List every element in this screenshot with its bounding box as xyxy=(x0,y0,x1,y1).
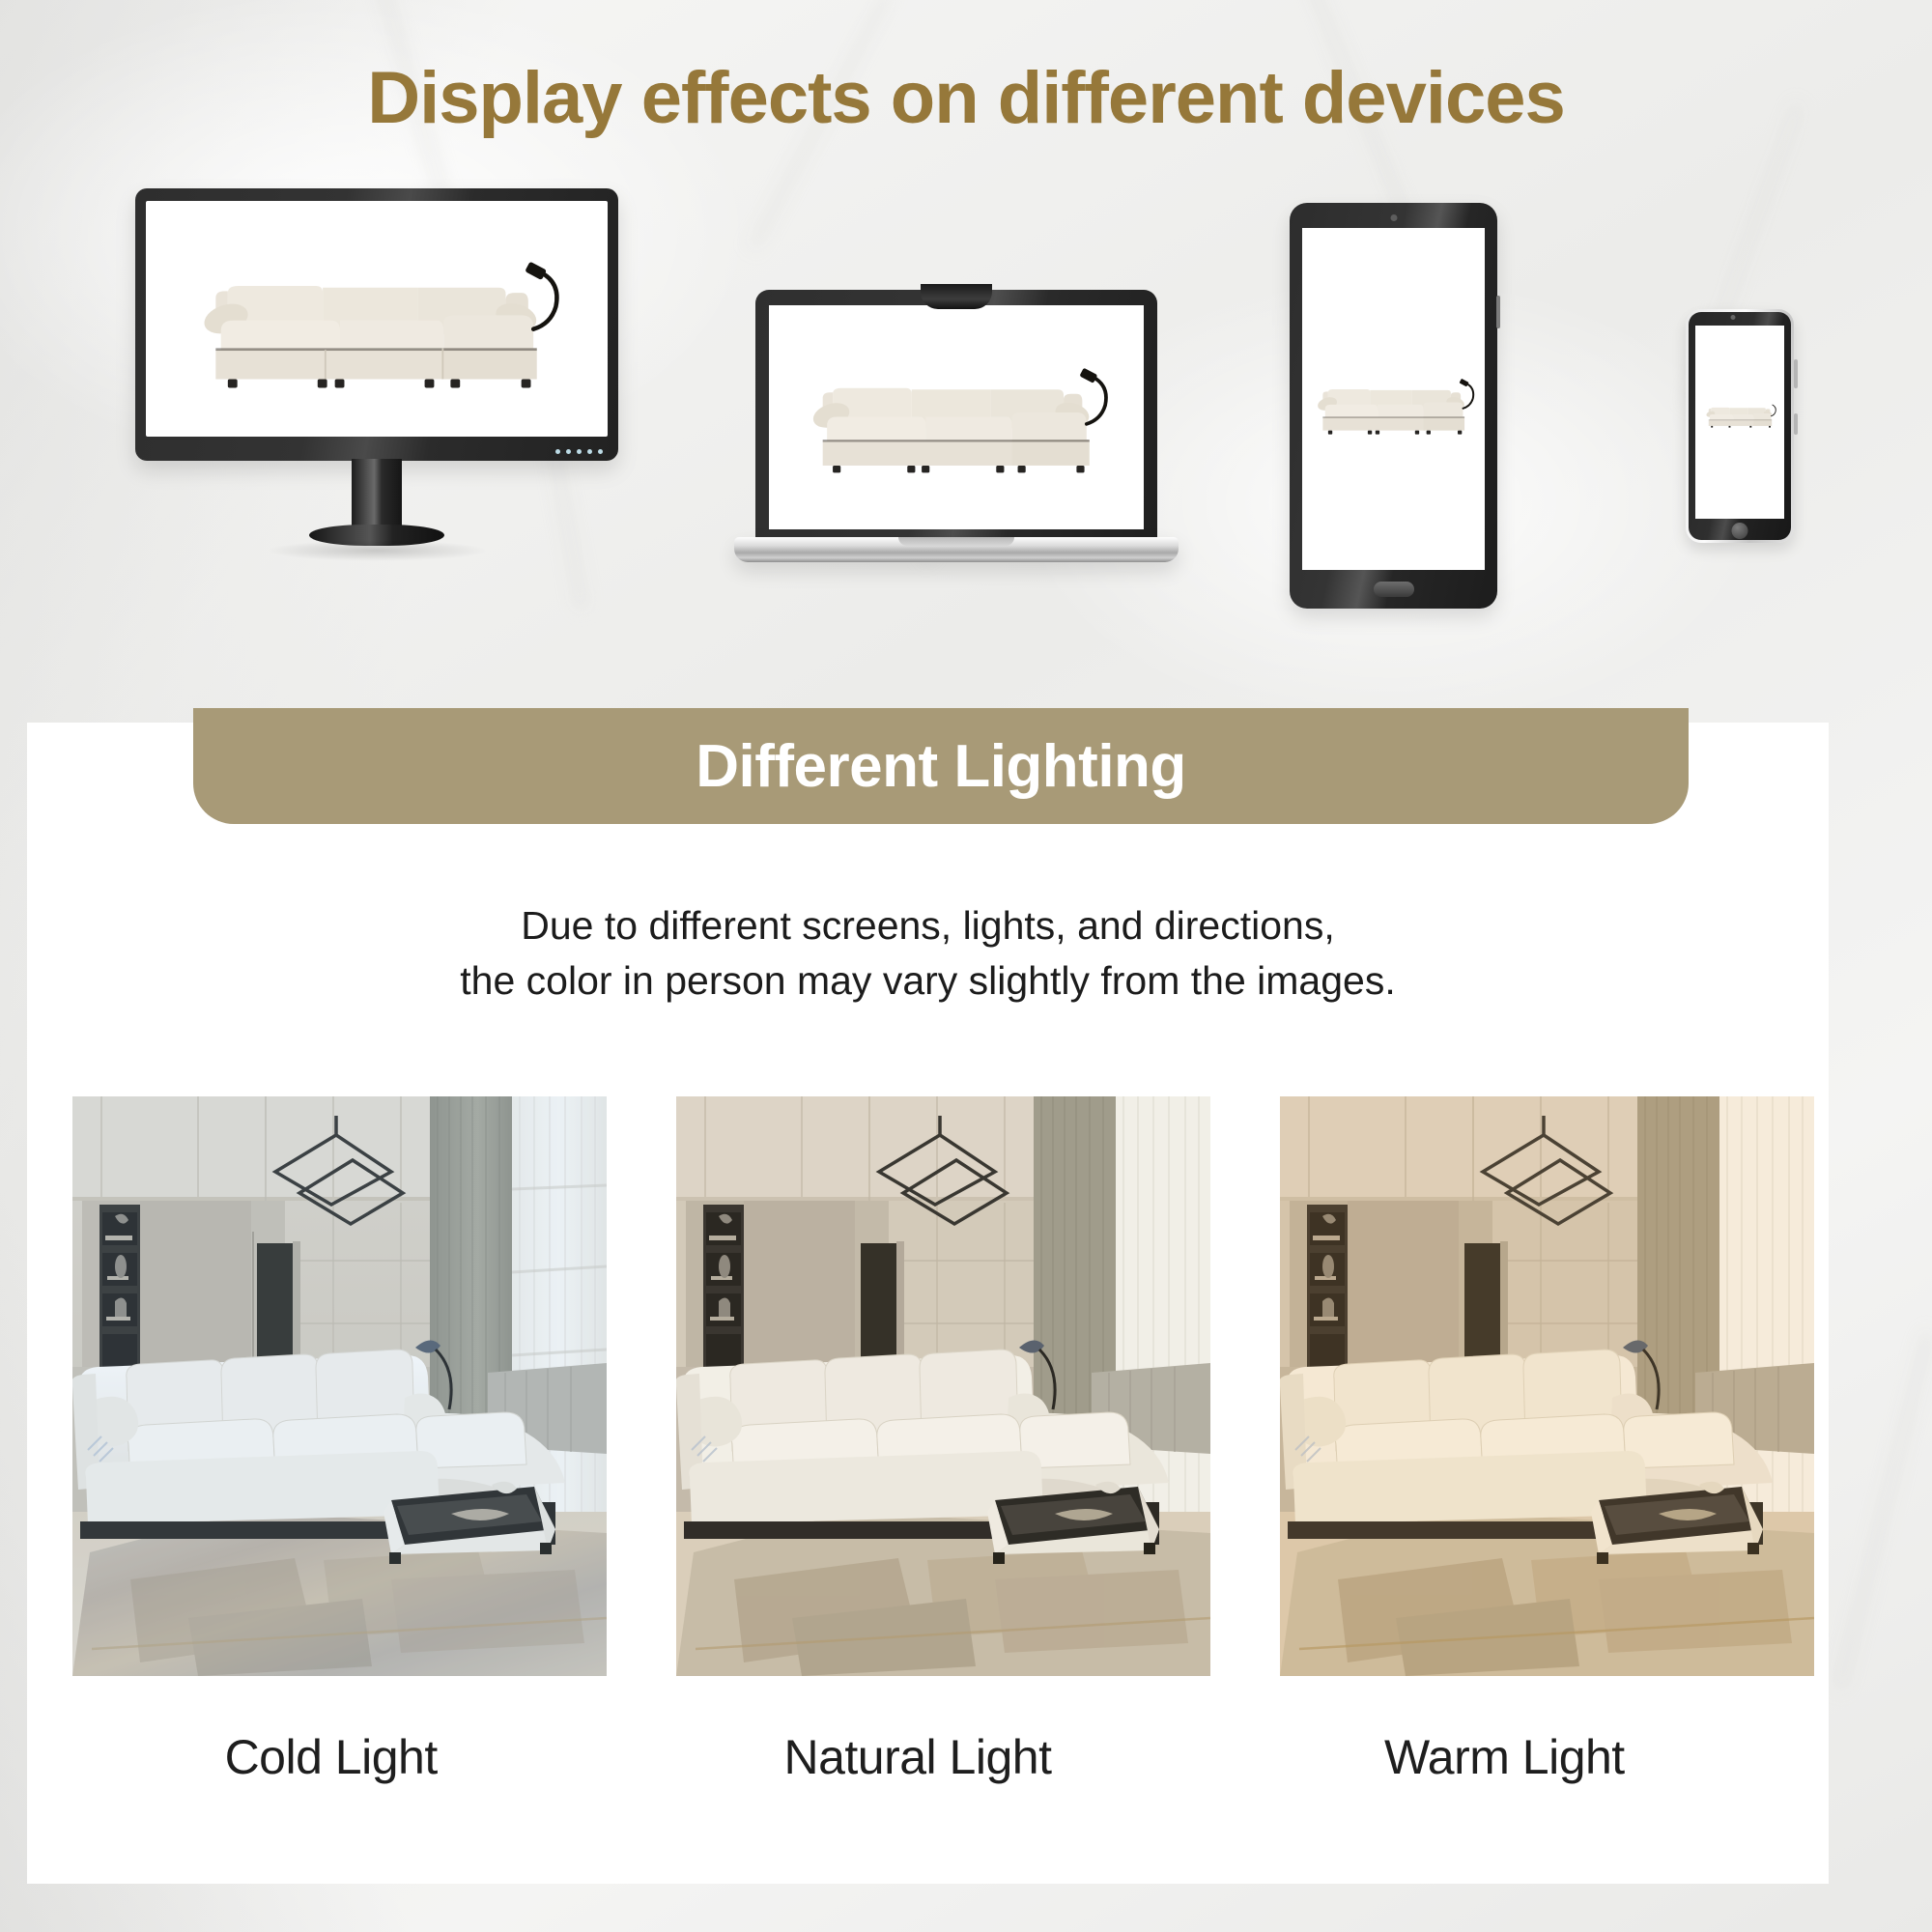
sofa-illustration xyxy=(1701,403,1779,432)
phone-volume-button[interactable] xyxy=(1794,359,1798,388)
room-photo-natural xyxy=(676,1096,1210,1676)
room-photo-cold xyxy=(72,1096,607,1676)
sofa-illustration xyxy=(178,262,575,409)
sofa-illustration xyxy=(791,368,1121,490)
tablet xyxy=(1290,203,1497,609)
tablet-side-button[interactable] xyxy=(1496,296,1500,328)
tablet-home-button[interactable] xyxy=(1374,582,1414,597)
room-scene-art xyxy=(72,1096,607,1676)
banner-title: Different Lighting xyxy=(696,732,1186,801)
different-lighting-banner: Different Lighting xyxy=(193,708,1689,824)
desktop-monitor xyxy=(135,188,618,604)
infographic-page: Display effects on different devices xyxy=(0,0,1932,1932)
monitor-shadow xyxy=(266,540,488,561)
phone-home-button[interactable] xyxy=(1732,523,1748,539)
phone-screen xyxy=(1695,326,1784,519)
disclaimer-line-2: the color in person may vary slightly fr… xyxy=(27,953,1829,1009)
room-scene xyxy=(72,1096,607,1676)
monitor-bezel xyxy=(135,188,618,461)
camera-icon xyxy=(1390,214,1397,221)
phone-frame xyxy=(1686,309,1794,543)
monitor-screen xyxy=(146,201,608,437)
camera-icon xyxy=(1731,315,1736,320)
device-row xyxy=(0,174,1932,638)
laptop-screen xyxy=(769,305,1144,529)
room-scene xyxy=(1280,1096,1814,1676)
smartphone xyxy=(1686,309,1794,543)
caption-cold-light: Cold Light xyxy=(72,1729,589,1785)
room-scene-art xyxy=(676,1096,1210,1676)
caption-warm-light: Warm Light xyxy=(1246,1729,1763,1785)
monitor-stand-neck xyxy=(352,459,402,528)
room-scene xyxy=(676,1096,1210,1676)
page-title: Display effects on different devices xyxy=(0,56,1932,140)
laptop-bezel xyxy=(755,290,1157,541)
laptop xyxy=(734,290,1179,618)
tablet-bezel xyxy=(1290,203,1497,609)
laptop-trackpad-notch xyxy=(898,537,1014,546)
photo-captions: Cold Light Natural Light Warm Light xyxy=(72,1729,1763,1785)
room-photo-warm xyxy=(1280,1096,1814,1676)
marble-vein xyxy=(1835,1332,1932,1690)
room-scene-art xyxy=(1280,1096,1814,1676)
phone-bezel xyxy=(1689,312,1791,540)
disclaimer-line-1: Due to different screens, lights, and di… xyxy=(27,898,1829,953)
tablet-screen xyxy=(1302,228,1485,570)
lighting-comparison-photos xyxy=(72,1096,1763,1676)
disclaimer-text: Due to different screens, lights, and di… xyxy=(27,898,1829,1008)
phone-power-button[interactable] xyxy=(1794,413,1798,435)
monitor-led-indicators xyxy=(555,449,603,454)
sofa-illustration xyxy=(1306,379,1481,443)
caption-natural-light: Natural Light xyxy=(659,1729,1176,1785)
laptop-webcam-housing xyxy=(921,284,992,309)
